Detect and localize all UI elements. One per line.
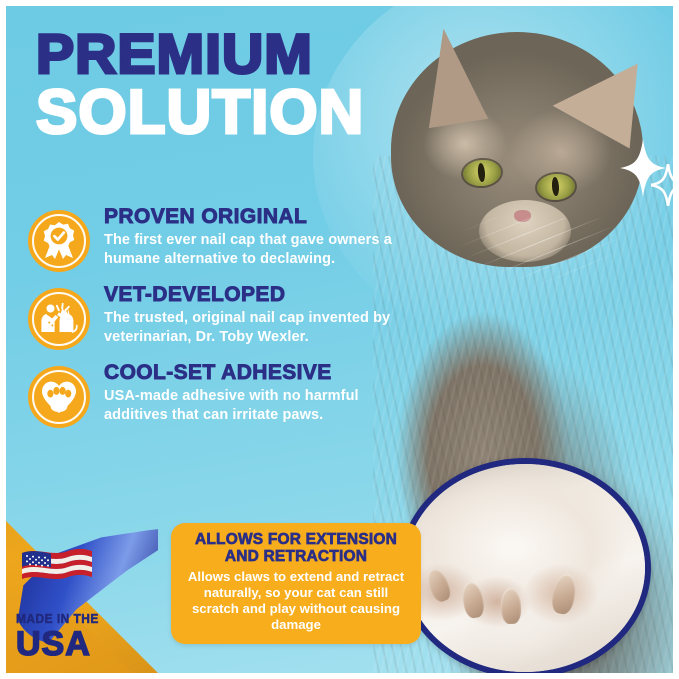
- cat-paw-image: [401, 460, 649, 673]
- feature-body: USA-made adhesive with no harmful additi…: [104, 387, 408, 424]
- usa-badge-text: MADE IN THE USA: [16, 611, 106, 661]
- cat-head: [391, 32, 643, 267]
- feature-body: The first ever nail cap that gave owners…: [104, 231, 408, 268]
- callout-body: Allows claws to extend and retract natur…: [183, 569, 409, 632]
- callout-title: ALLOWS FOR EXTENSION AND RETRACTION: [183, 532, 409, 565]
- nail-cap: [423, 566, 453, 605]
- made-in-the-label: MADE IN THE: [16, 611, 99, 626]
- feature-text: PROVEN ORIGINAL The first ever nail cap …: [104, 206, 408, 268]
- person-high-five-cat-icon: [28, 288, 90, 350]
- feature-item: VET-DEVELOPED The trusted, original nail…: [28, 284, 408, 350]
- product-feature-poster: PREMIUM SOLUTION PROVEN ORIGINAL The: [0, 0, 679, 679]
- feature-title: VET-DEVELOPED: [104, 284, 408, 306]
- cat-eye-left: [462, 158, 502, 187]
- headline: PREMIUM SOLUTION: [36, 28, 364, 142]
- headline-line-premium: PREMIUM: [36, 28, 371, 80]
- poster-background: PREMIUM SOLUTION PROVEN ORIGINAL The: [6, 6, 673, 673]
- usa-flag-icon: [20, 545, 94, 587]
- feature-text: COOL-SET ADHESIVE USA-made adhesive with…: [104, 362, 408, 424]
- feature-item: COOL-SET ADHESIVE USA-made adhesive with…: [28, 362, 408, 428]
- feature-item: PROVEN ORIGINAL The first ever nail cap …: [28, 206, 408, 272]
- cat-ear-left: [414, 24, 488, 128]
- award-ribbon-check-icon: [28, 210, 90, 272]
- usa-label: USA: [16, 627, 106, 661]
- feature-text: VET-DEVELOPED The trusted, original nail…: [104, 284, 408, 346]
- feature-body: The trusted, original nail cap invented …: [104, 309, 408, 346]
- callout-box: ALLOWS FOR EXTENSION AND RETRACTION Allo…: [171, 523, 421, 644]
- feature-title: COOL-SET ADHESIVE: [104, 362, 408, 384]
- paw-closeup-inset: [399, 458, 651, 673]
- feature-list: PROVEN ORIGINAL The first ever nail cap …: [28, 206, 408, 440]
- cat-eye-right: [536, 173, 576, 202]
- cat-ear-right: [553, 38, 668, 149]
- nail-cap: [460, 581, 486, 620]
- nail-cap: [550, 572, 579, 615]
- heart-paw-icon: [28, 366, 90, 428]
- nail-cap: [500, 588, 521, 625]
- feature-title: PROVEN ORIGINAL: [104, 206, 408, 228]
- made-in-usa-badge: MADE IN THE USA: [6, 521, 158, 673]
- headline-line-solution: SOLUTION: [36, 84, 364, 143]
- sparkle-small-icon: [651, 164, 673, 206]
- cat-whiskers: [431, 218, 651, 338]
